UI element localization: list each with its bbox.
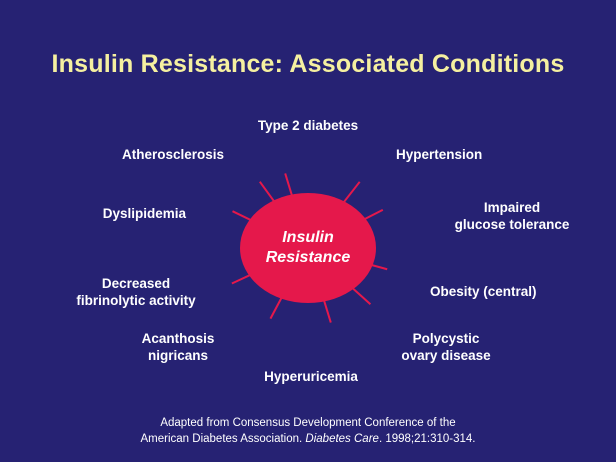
citation-line-1: Adapted from Consensus Development Confe… bbox=[0, 415, 616, 432]
slide: Insulin Resistance: Associated Condition… bbox=[0, 0, 616, 462]
node-impaired-glucose-tolerance: Impaired glucose tolerance bbox=[432, 200, 592, 234]
node-decreased-fibrinolytic-activity: Decreased fibrinolytic activity bbox=[56, 276, 216, 310]
node-polycystic-ovary-disease: Polycystic ovary disease bbox=[386, 331, 506, 365]
node-atherosclerosis: Atherosclerosis bbox=[82, 147, 224, 164]
source-citation: Adapted from Consensus Development Confe… bbox=[0, 415, 616, 448]
node-obesity-central: Obesity (central) bbox=[430, 284, 590, 301]
citation-volume-pages: . 1998;21:310-314. bbox=[379, 433, 476, 445]
node-hyperuricemia: Hyperuricemia bbox=[246, 369, 376, 386]
page-title: Insulin Resistance: Associated Condition… bbox=[0, 50, 616, 79]
citation-journal: Diabetes Care bbox=[305, 433, 379, 445]
citation-organization: American Diabetes Association. bbox=[141, 433, 306, 445]
hub-label: Insulin Resistance bbox=[240, 193, 376, 303]
node-hypertension: Hypertension bbox=[396, 147, 536, 164]
hub-label-line2: Resistance bbox=[266, 248, 351, 268]
hub-circle: Insulin Resistance bbox=[240, 193, 376, 303]
citation-line-2: American Diabetes Association. Diabetes … bbox=[0, 431, 616, 448]
node-dyslipidemia: Dyslipidemia bbox=[46, 206, 186, 223]
hub-label-line1: Insulin bbox=[282, 228, 334, 248]
node-type-2-diabetes: Type 2 diabetes bbox=[243, 118, 373, 135]
node-acanthosis-nigricans: Acanthosis nigricans bbox=[116, 331, 240, 365]
